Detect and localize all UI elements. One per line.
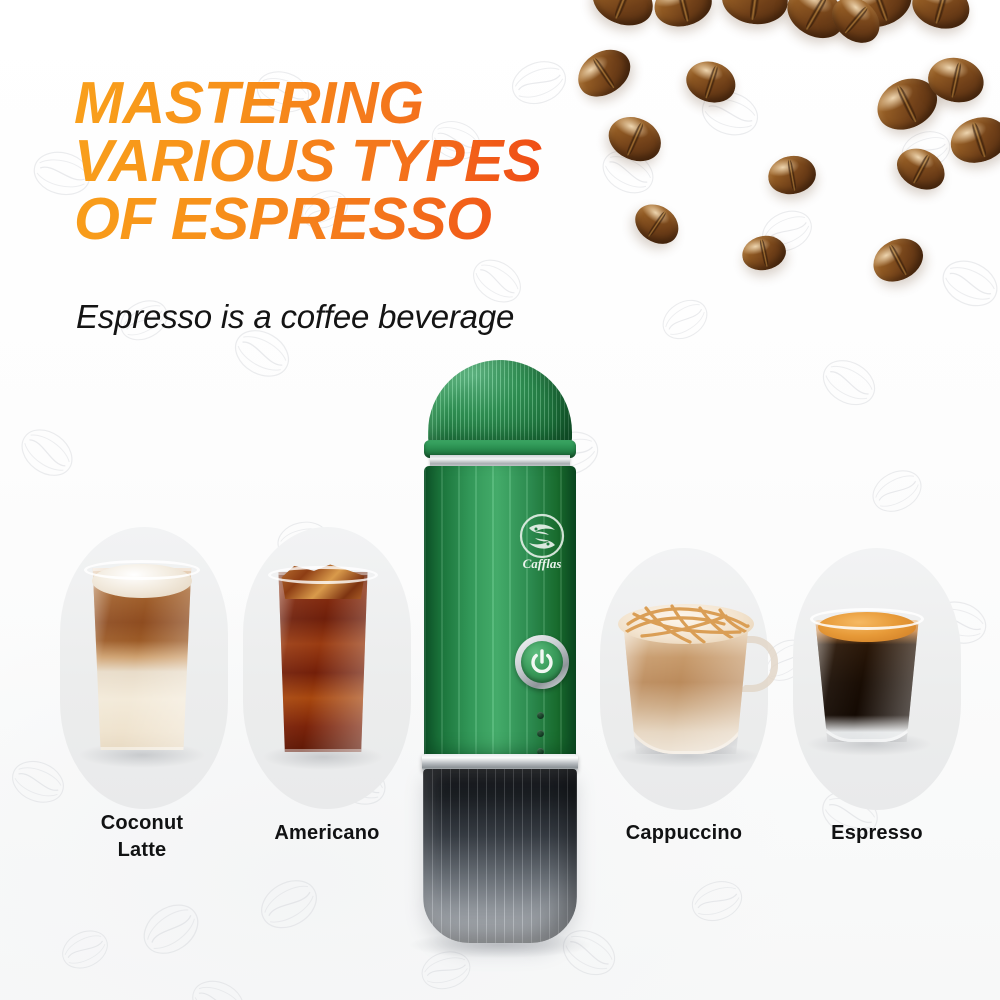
drink-label-espresso: Espresso [793,820,961,847]
machine-dome-cap[interactable] [428,360,572,446]
led-indicator [537,730,544,737]
espresso-rim [810,608,924,630]
poster-canvas: MASTERING VARIOUS TYPES OF ESPRESSO Espr… [0,0,1000,1000]
coffee-bean-icon [779,0,854,48]
cappuccino-caramel-drizzle [620,602,752,644]
coffee-bean-icon [650,0,717,32]
coffee-bean-icon [586,0,661,34]
coffee-bean-outline-icon [184,970,253,1000]
coffee-bean-icon [869,69,946,139]
brand-logo-icon: Cafflas [516,512,568,574]
drink-label-americano: Americano [243,820,411,847]
americano-rim [268,566,378,584]
coffee-bean-icon [842,0,919,35]
coffee-bean-icon [823,0,889,52]
coffee-bean-outline-icon [933,249,1000,317]
coffee-bean-outline-icon [4,751,72,812]
led-indicator [537,712,544,719]
espresso-machine: Cafflas [382,360,618,952]
coffee-bean-outline-icon [10,417,84,488]
coffee-bean-outline-icon [694,82,766,145]
page-title: MASTERING VARIOUS TYPES OF ESPRESSO [74,74,694,248]
coffee-bean-icon [719,0,791,28]
coffee-bean-outline-icon [813,349,886,417]
coffee-bean-outline-icon [132,892,211,967]
machine-water-tank[interactable] [423,769,577,943]
coffee-bean-outline-icon [895,123,957,178]
coffee-bean-outline-icon [294,992,363,1000]
brand-logo-text: Cafflas [523,556,562,571]
coffee-bean-outline-icon [250,868,328,941]
coffee-bean-outline-icon [754,201,820,261]
coffee-bean-icon [924,53,988,108]
caramel-lattice-icon [620,602,752,644]
coffee-bean-outline-icon [653,290,716,350]
machine-body: Cafflas [424,466,576,758]
coconut-latte-rim [84,560,200,580]
coffee-bean-outline-icon [684,872,749,930]
coffee-bean-outline-icon [863,460,930,523]
coffee-bean-icon [945,110,1000,170]
page-subtitle: Espresso is a coffee beverage [76,298,514,336]
coffee-bean-outline-icon [54,921,116,978]
coffee-bean-icon [890,140,952,197]
coffee-bean-icon [765,152,819,198]
americano-glass [270,572,376,752]
coffee-bean-icon [907,0,975,35]
coffee-bean-icon [866,230,931,290]
drink-label-coconut-latte: Coconut Latte [58,810,226,864]
power-icon [527,647,557,677]
drink-label-cappuccino: Cappuccino [600,820,768,847]
coffee-bean-icon [739,232,789,274]
